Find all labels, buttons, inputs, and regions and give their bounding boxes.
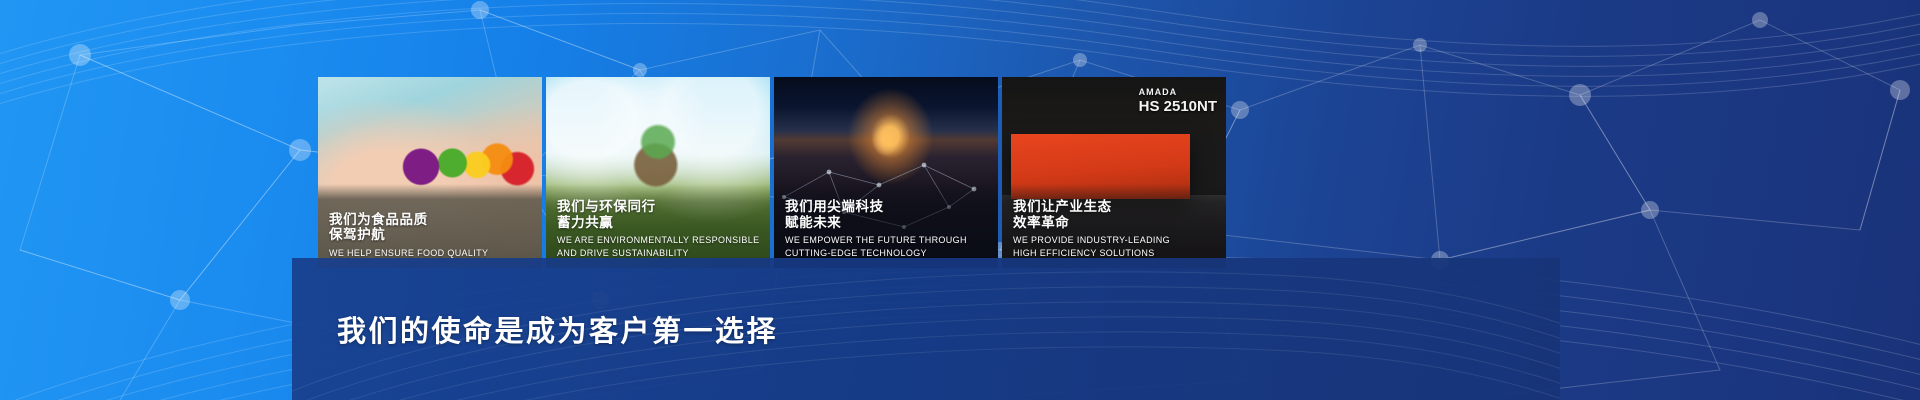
machine-brand-label: AMADA HS 2510NT (1139, 87, 1217, 115)
feature-card[interactable]: 我们为食品品质 保驾护航 WE HELP ENSURE FOOD QUALITY (318, 77, 542, 268)
mission-title: 我们的使命是成为客户第一选择 (337, 308, 778, 350)
card-cn-line: 我们让产业生态 (1013, 199, 1218, 215)
machine-model-number: HS 2510NT (1139, 98, 1217, 115)
card-en-line: WE EMPOWER THE FUTURE THROUGH (785, 234, 990, 247)
card-cn-line: 赋能未来 (785, 215, 990, 231)
card-text-block: 我们用尖端科技 赋能未来 WE EMPOWER THE FUTURE THROU… (785, 199, 990, 259)
card-en-block: WE PROVIDE INDUSTRY-LEADING HIGH EFFICIE… (1013, 234, 1218, 259)
feature-card[interactable]: 我们与环保同行 蓄力共赢 WE ARE ENVIRONMENTALLY RESP… (546, 77, 770, 268)
card-cn-line: 我们与环保同行 (557, 199, 762, 215)
card-text-block: 我们为食品品质 保驾护航 WE HELP ENSURE FOOD QUALITY (329, 212, 534, 260)
card-cn-line: 我们为食品品质 (329, 212, 534, 228)
card-cn-line: 保驾护航 (329, 227, 534, 243)
card-cn-line: 我们用尖端科技 (785, 199, 990, 215)
feature-card[interactable]: AMADA HS 2510NT 我们让产业生态 效率革命 WE PROVIDE … (1002, 77, 1226, 268)
card-text-block: 我们让产业生态 效率革命 WE PROVIDE INDUSTRY-LEADING… (1013, 199, 1218, 259)
mission-panel: 我们的使命是成为客户第一选择 (292, 258, 1560, 400)
mission-banner: 我们为食品品质 保驾护航 WE HELP ENSURE FOOD QUALITY… (0, 0, 1920, 400)
machine-brand-name: AMADA (1139, 87, 1178, 97)
card-cn-line: 蓄力共赢 (557, 215, 762, 231)
card-en-line: WE PROVIDE INDUSTRY-LEADING (1013, 234, 1218, 247)
card-cn-line: 效率革命 (1013, 215, 1218, 231)
card-text-block: 我们与环保同行 蓄力共赢 WE ARE ENVIRONMENTALLY RESP… (557, 199, 762, 259)
card-en-line: WE ARE ENVIRONMENTALLY RESPONSIBLE (557, 234, 762, 247)
card-en-block: WE ARE ENVIRONMENTALLY RESPONSIBLE AND D… (557, 234, 762, 259)
feature-card[interactable]: 我们用尖端科技 赋能未来 WE EMPOWER THE FUTURE THROU… (774, 77, 998, 268)
feature-card-row: 我们为食品品质 保驾护航 WE HELP ENSURE FOOD QUALITY… (318, 77, 1528, 268)
card-en-block: WE EMPOWER THE FUTURE THROUGH CUTTING-ED… (785, 234, 990, 259)
